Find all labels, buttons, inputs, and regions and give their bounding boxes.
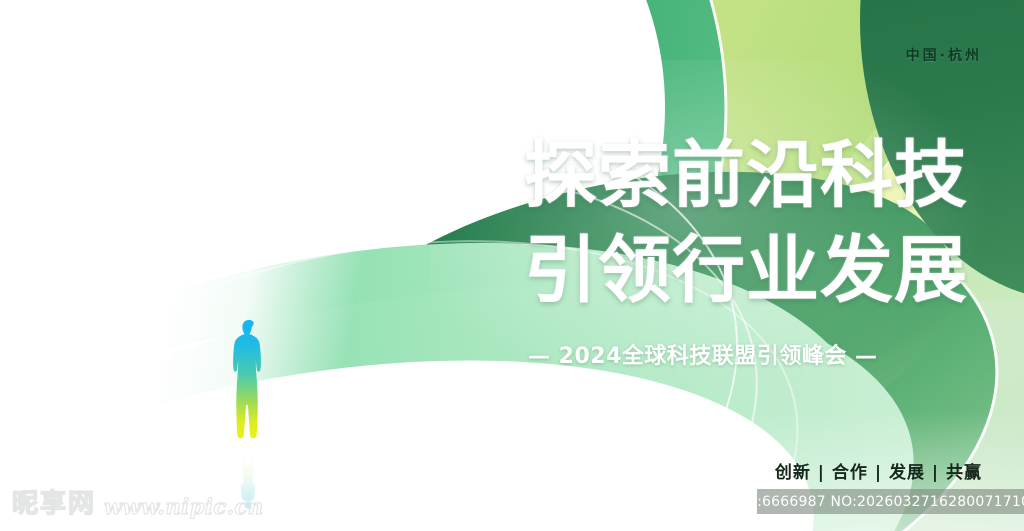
person-silhouette (228, 318, 270, 446)
left-white-fade (0, 230, 420, 531)
watermark-logo-text: 昵享网 (12, 491, 96, 517)
headline-line-2: 引领行业发展 (524, 223, 924, 318)
keyword-list: 创新 | 合作 | 发展 | 共赢 (775, 458, 982, 483)
headline-block: 探索前沿科技 引领行业发展 (524, 128, 924, 318)
stock-id-bar: ID:6666987 NO:20260327162800717101 (757, 489, 1024, 514)
event-poster: 中国·杭州 探索前沿科技 引领行业发展 — 2024全球科技联盟引领峰会 — 创… (0, 0, 1024, 531)
site-watermark: 昵享网 www.nipic.cn (12, 491, 264, 517)
event-subtitle: — 2024全球科技联盟引领峰会 — (528, 338, 878, 370)
headline-line-1: 探索前沿科技 (524, 128, 924, 223)
stock-id-text: ID:6666987 NO:20260327162800717101 (742, 494, 1024, 510)
watermark-url-text: www.nipic.cn (104, 496, 264, 517)
event-location: 中国·杭州 (906, 45, 982, 65)
